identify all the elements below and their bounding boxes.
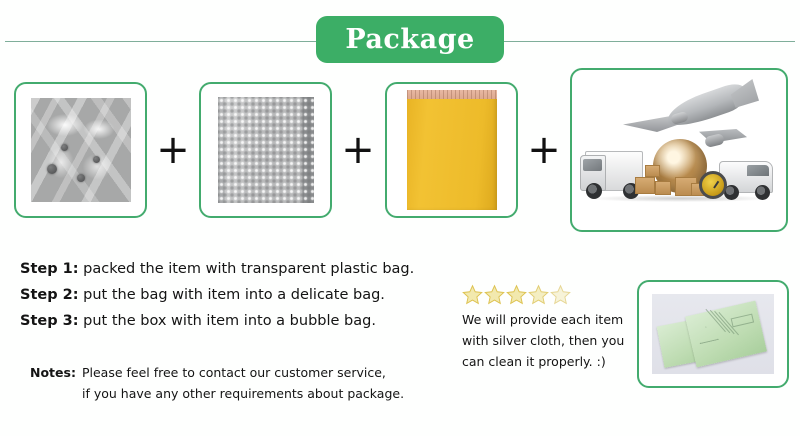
star-icon <box>484 284 505 305</box>
cloth-label-badge <box>731 314 754 328</box>
step-item-2: Step 2: put the bag with item into a del… <box>20 282 460 308</box>
notes-line-2: if you have any other requirements about… <box>82 383 450 404</box>
silver-cloth-image-box <box>637 280 789 388</box>
star-icon <box>528 284 549 305</box>
truck-wheel-icon <box>586 183 602 199</box>
package-image-box-plastic-bag <box>14 82 147 218</box>
clock-icon <box>699 171 727 199</box>
notes-text-line-2: if you have any other requirements about… <box>82 383 404 404</box>
step-3-text: put the box with item into a bubble bag. <box>83 313 376 329</box>
step-1-text: packed the item with transparent plastic… <box>83 261 414 277</box>
cloth-logo-icon <box>696 325 717 343</box>
step-1-label: Step 1: <box>20 261 79 277</box>
star-rating <box>462 284 622 305</box>
notes-block: Notes: Please feel free to contact our c… <box>30 362 450 404</box>
jewelry-charm-icon <box>77 174 85 182</box>
package-title-pill: Package <box>316 16 504 63</box>
package-image-box-delicate-bag <box>199 82 332 218</box>
cardboard-box-icon <box>635 177 655 194</box>
delicate-bubble-bag-photo <box>218 97 314 203</box>
package-infographic: Package + + + <box>0 0 800 436</box>
jewelry-charm-icon <box>61 144 68 151</box>
cloth-text-line-3: can clean it properly. :) <box>462 351 622 372</box>
transparent-plastic-bag-photo <box>31 98 131 202</box>
step-2-text: put the bag with item into a delicate ba… <box>83 287 385 303</box>
notes-text-line-1: Please feel free to contact our customer… <box>82 362 386 383</box>
plus-separator-1: + <box>147 82 199 218</box>
cloth-text-line-2: with silver cloth, then you <box>462 330 622 351</box>
jewelry-charm-icon <box>93 156 100 163</box>
cloth-text-line-1: We will provide each item <box>462 309 622 330</box>
notes-label: Notes: <box>30 362 76 383</box>
steps-list: Step 1: packed the item with transparent… <box>20 256 460 334</box>
jewelry-charm-icon <box>47 164 57 174</box>
silver-cloth-note: We will provide each item with silver cl… <box>462 284 622 372</box>
ground-shadow <box>589 195 771 202</box>
package-image-box-bubble-mailer <box>385 82 518 218</box>
cardboard-box-icon <box>655 181 671 195</box>
package-image-box-shipping <box>570 68 788 232</box>
cloth-sheet-front <box>685 301 767 368</box>
mailer-adhesive-strip <box>407 90 497 99</box>
shipping-logistics-photo <box>579 77 779 223</box>
van-window-icon <box>747 165 769 176</box>
step-2-label: Step 2: <box>20 287 79 303</box>
star-icon <box>506 284 527 305</box>
step-item-3: Step 3: put the box with item into a bub… <box>20 308 460 334</box>
plus-separator-3: + <box>518 82 570 218</box>
silver-cloth-photo <box>652 294 774 374</box>
star-icon <box>462 284 483 305</box>
header-band: Package <box>0 16 800 66</box>
van-wheel-icon <box>755 185 770 200</box>
yellow-bubble-mailer-photo <box>407 90 497 210</box>
package-steps-strip: + + + <box>0 64 800 236</box>
step-3-label: Step 3: <box>20 313 79 329</box>
cardboard-box-icon <box>645 165 660 177</box>
plus-separator-2: + <box>332 82 384 218</box>
page-title: Package <box>345 26 474 53</box>
star-icon <box>550 284 571 305</box>
step-item-1: Step 1: packed the item with transparent… <box>20 256 460 282</box>
truck-window-icon <box>583 159 602 171</box>
notes-line-1: Notes: Please feel free to contact our c… <box>30 362 450 383</box>
